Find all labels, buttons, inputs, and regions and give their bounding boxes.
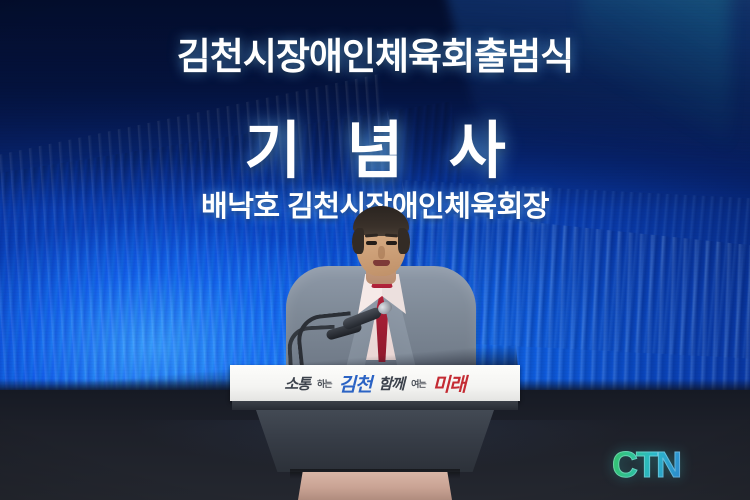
slogan-part-hamkke: 함께 [379, 373, 405, 394]
podium-base [298, 472, 452, 500]
hair-side-left [352, 228, 364, 254]
podium: 소통 하는 김천 함께 여는 미래 [230, 365, 520, 500]
podium-slogan: 소통 하는 김천 함께 여는 미래 [230, 365, 520, 401]
slogan-part-sotong: 소통 [284, 373, 310, 394]
mouth [373, 260, 390, 266]
slogan-part-mirae: 미래 [433, 370, 466, 397]
eye-right [386, 241, 397, 245]
eye-left [366, 241, 377, 245]
slogan-part-gimcheon: 김천 [339, 370, 372, 397]
ctn-channel-logo: CTN [612, 447, 680, 483]
nose [378, 246, 385, 259]
hair-side-right [398, 228, 410, 254]
headline-text: 기 념 사 [0, 100, 750, 190]
podium-top-lip [232, 401, 518, 410]
slogan-part-yeoneun: 여는 [411, 377, 426, 390]
broadcast-screenshot: 김천시장애인체육회출범식 기 념 사 배낙호 김천시장애인체육회장 [0, 0, 750, 500]
slogan-part-haneun: 하는 [317, 377, 332, 390]
podium-body [256, 410, 494, 472]
podium-slogan-band: 소통 하는 김천 함께 여는 미래 [230, 365, 520, 401]
event-title: 김천시장애인체육회출범식 [0, 26, 750, 80]
